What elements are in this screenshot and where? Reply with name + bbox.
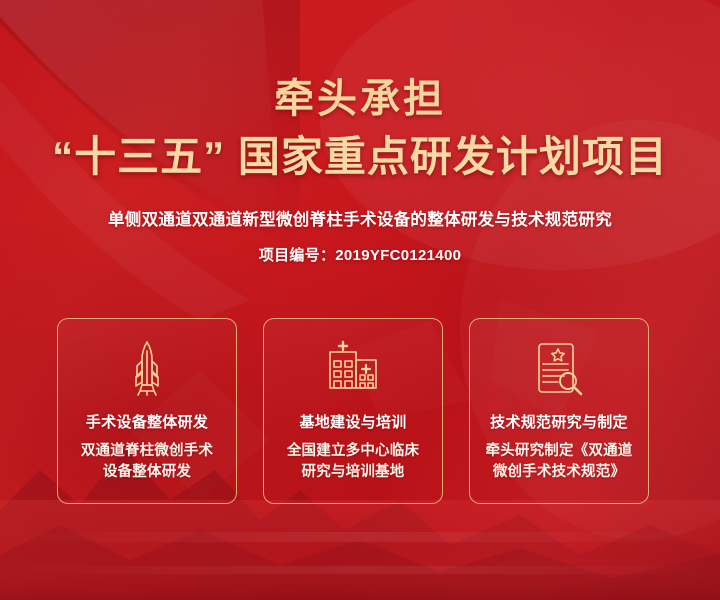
feature-card-description: 双通道脊柱微创手术设备整体研发 xyxy=(81,441,213,483)
feature-card-title: 技术规范研究与制定 xyxy=(490,411,628,432)
hospital-building-icon xyxy=(322,339,384,397)
feature-card-standards[interactable]: 技术规范研究与制定 牵头研究制定《双通道微创手术技术规范》 xyxy=(469,318,649,504)
poster-header: 牵头承担 “十三五” 国家重点研发计划项目 单侧双通道双通道新型微创脊柱手术设备… xyxy=(0,0,720,265)
page-title-line2: “十三五” 国家重点研发计划项目 xyxy=(0,134,720,180)
feature-card-base-training[interactable]: 基地建设与培训 全国建立多中心临床研究与培训基地 xyxy=(263,318,443,504)
poster-root: 牵头承担 “十三五” 国家重点研发计划项目 单侧双通道双通道新型微创脊柱手术设备… xyxy=(0,0,720,600)
page-title-line1: 牵头承担 xyxy=(0,78,720,120)
rocket-icon xyxy=(116,339,178,397)
project-subtitle: 单侧双通道双通道新型微创脊柱手术设备的整体研发与技术规范研究 xyxy=(0,206,720,230)
feature-card-equipment-rd[interactable]: 手术设备整体研发 双通道脊柱微创手术设备整体研发 xyxy=(57,318,237,504)
document-search-icon xyxy=(528,339,590,397)
feature-card-title: 基地建设与培训 xyxy=(299,411,406,432)
feature-card-list: 手术设备整体研发 双通道脊柱微创手术设备整体研发 xyxy=(57,318,663,504)
feature-card-title: 手术设备整体研发 xyxy=(86,411,208,432)
feature-card-description: 全国建立多中心临床研究与培训基地 xyxy=(287,441,419,483)
project-number: 项目编号：2019YFC0121400 xyxy=(0,244,720,265)
feature-card-description: 牵头研究制定《双通道微创手术技术规范》 xyxy=(486,441,633,483)
